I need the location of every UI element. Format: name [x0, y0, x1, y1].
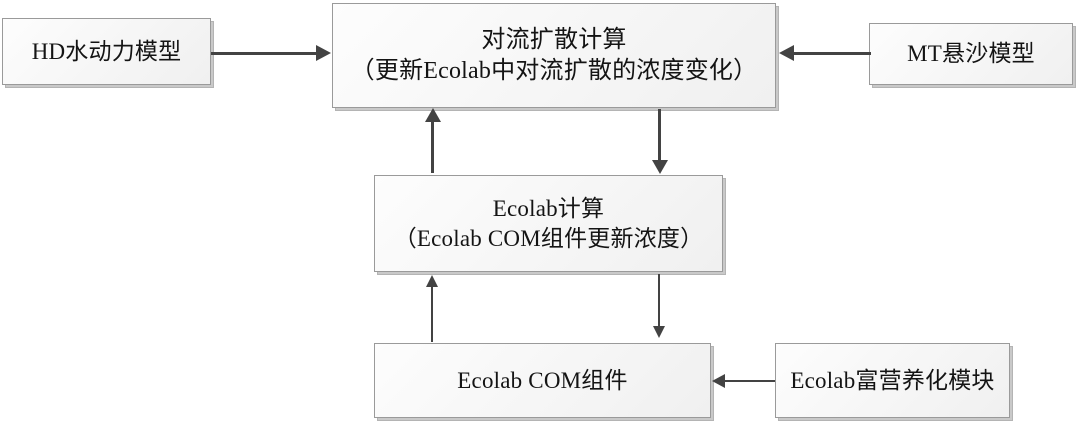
node-ecolab-calc[interactable]: Ecolab计算 （Ecolab COM组件更新浓度）: [374, 175, 723, 272]
edge-com-to-ecolab-calc-line: [431, 285, 433, 342]
edge-advection-to-ecolab-calc-arrowhead-icon: [652, 160, 668, 174]
node-hd-model-label: HD水动力模型: [28, 37, 186, 66]
node-ecolab-com[interactable]: Ecolab COM组件: [374, 343, 711, 418]
edge-eutro-to-com-line: [725, 380, 775, 382]
node-mt-model[interactable]: MT悬沙模型: [869, 23, 1073, 85]
edge-hd-to-advection-line: [211, 52, 317, 55]
diagram-canvas: HD水动力模型 对流扩散计算 （更新Ecolab中对流扩散的浓度变化） MT悬沙…: [0, 0, 1080, 426]
node-advection-diffusion-line2: （更新Ecolab中对流扩散的浓度变化）: [351, 56, 758, 87]
edge-ecolab-calc-to-advection-line: [431, 116, 434, 173]
node-ecolab-com-line1: Ecolab COM组件: [457, 368, 627, 393]
edge-mt-to-advection-arrowhead-icon: [779, 45, 794, 61]
edge-ecolab-calc-to-com-arrowhead-icon: [653, 326, 665, 338]
node-ecolab-calc-label: Ecolab计算 （Ecolab COM组件更新浓度）: [390, 194, 708, 253]
node-hd-model[interactable]: HD水动力模型: [2, 18, 211, 85]
edge-hd-to-advection-arrowhead-icon: [316, 45, 331, 61]
edge-ecolab-calc-to-advection-arrowhead-icon: [425, 108, 441, 122]
node-advection-diffusion-line1: 对流扩散计算: [481, 27, 626, 53]
edge-advection-to-ecolab-calc-line: [658, 109, 661, 163]
edge-mt-to-advection-line: [793, 52, 871, 55]
node-mt-model-label: MT悬沙模型: [903, 39, 1039, 68]
node-eutrophication[interactable]: Ecolab富营养化模块: [775, 343, 1010, 418]
node-hd-model-line1: HD水动力模型: [32, 39, 182, 64]
node-eutrophication-label: Ecolab富营养化模块: [786, 366, 998, 395]
node-advection-diffusion[interactable]: 对流扩散计算 （更新Ecolab中对流扩散的浓度变化）: [332, 3, 776, 108]
node-ecolab-calc-line2: （Ecolab COM组件更新浓度）: [394, 224, 704, 253]
node-mt-model-line1: MT悬沙模型: [907, 41, 1035, 66]
node-eutrophication-line1: Ecolab富营养化模块: [790, 368, 994, 393]
node-ecolab-calc-line1: Ecolab计算: [493, 196, 604, 221]
edge-eutro-to-com-arrowhead-icon: [712, 374, 725, 388]
node-ecolab-com-label: Ecolab COM组件: [453, 366, 631, 395]
node-advection-diffusion-label: 对流扩散计算 （更新Ecolab中对流扩散的浓度变化）: [347, 25, 762, 86]
edge-com-to-ecolab-calc-arrowhead-icon: [426, 275, 438, 287]
edge-ecolab-calc-to-com-line: [658, 274, 660, 328]
